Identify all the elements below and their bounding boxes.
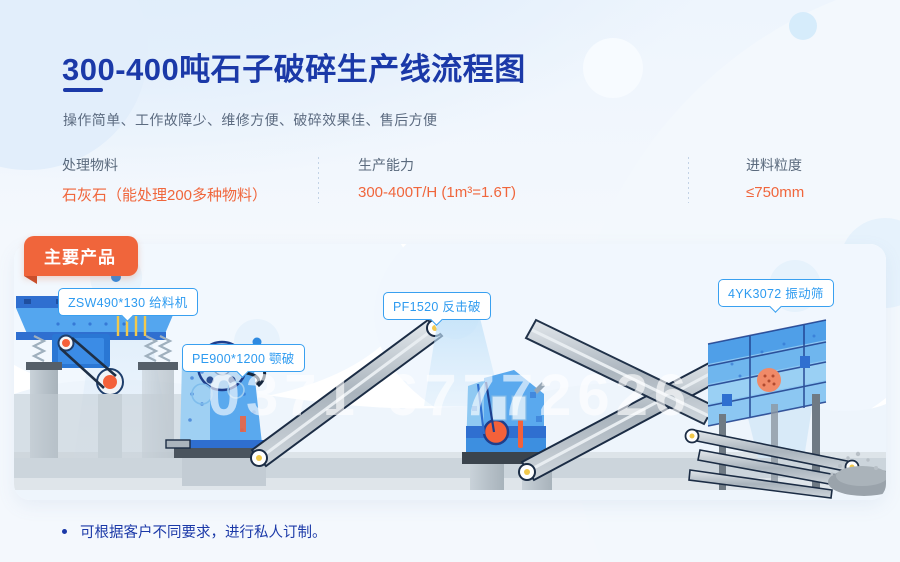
infographic-page: 300-400吨石子破碎生产线流程图 操作简单、工作故障少、维修方便、破碎效果佳… <box>0 0 900 562</box>
bullet-icon <box>62 529 67 534</box>
spec-strip: 处理物料 石灰石（能处理200多种物料） 生产能力 300-400T/H (1m… <box>62 155 852 207</box>
spec-label-material: 处理物料 <box>62 155 267 175</box>
spec-value-feed-size: ≤750mm <box>746 184 804 201</box>
spec-divider-1 <box>318 157 319 203</box>
spec-label-feed-size: 进料粒度 <box>746 155 804 175</box>
page-subtitle: 操作简单、工作故障少、维修方便、破碎效果佳、售后方便 <box>63 110 437 130</box>
footer-note-text: 可根据客户不同要求，进行私人订制。 <box>80 525 327 541</box>
footer-note: 可根据客户不同要求，进行私人订制。 <box>62 521 327 542</box>
spec-item-feed-size: 进料粒度 ≤750mm <box>746 155 804 201</box>
spec-item-material: 处理物料 石灰石（能处理200多种物料） <box>62 155 267 205</box>
main-products-badge: 主要产品 <box>24 236 138 276</box>
spec-item-capacity: 生产能力 300-400T/H (1m³=1.6T) <box>358 155 516 201</box>
spec-label-capacity: 生产能力 <box>358 155 516 175</box>
spec-divider-2 <box>688 157 689 203</box>
spec-value-material: 石灰石（能处理200多种物料） <box>62 184 267 205</box>
equipment-label-jaw-crusher[interactable]: PE900*1200 颚破 <box>182 344 305 372</box>
equipment-label-vibrating-screen[interactable]: 4YK3072 振动筛 <box>718 279 834 307</box>
page-title: 300-400吨石子破碎生产线流程图 <box>62 44 526 89</box>
equipment-label-impact-crusher[interactable]: PF1520 反击破 <box>383 292 491 320</box>
spec-value-capacity: 300-400T/H (1m³=1.6T) <box>358 184 516 201</box>
title-underline <box>63 88 103 92</box>
equipment-label-feeder[interactable]: ZSW490*130 给料机 <box>58 288 198 316</box>
conveyor-feeder-to-jaw <box>166 440 190 448</box>
